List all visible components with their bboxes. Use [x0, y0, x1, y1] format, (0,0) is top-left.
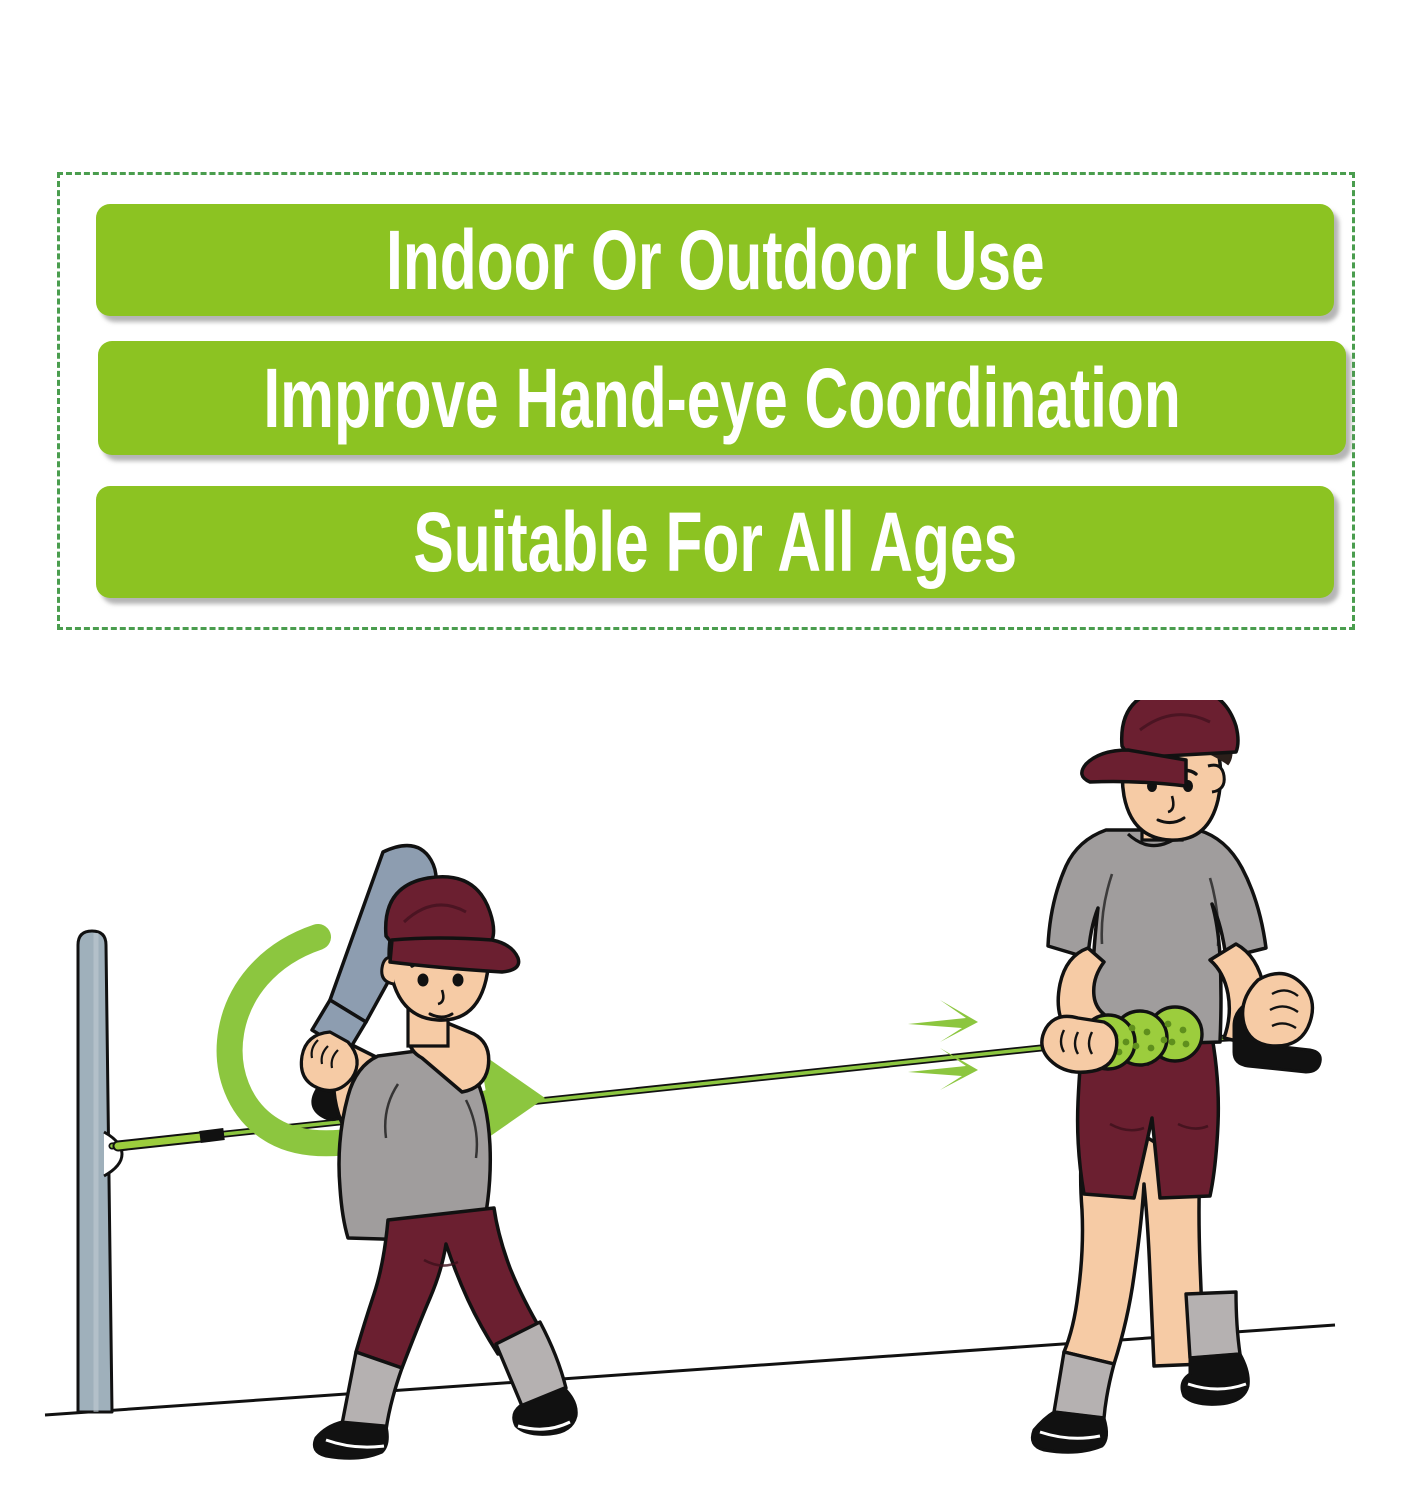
adult-left-hand	[1042, 1016, 1117, 1072]
feature-bar-all-ages: Suitable For All Ages	[96, 486, 1334, 598]
boy-sock-left	[342, 1352, 402, 1430]
feature-bar-hand-eye: Improve Hand-eye Coordination	[98, 341, 1346, 455]
boy-shoe-left	[314, 1422, 387, 1458]
adult-shoe-right	[1182, 1354, 1248, 1404]
adult-sock-left	[1054, 1352, 1114, 1418]
feature-bar-label-2: Improve Hand-eye Coordination	[263, 356, 1180, 440]
adult-trainer	[1032, 700, 1320, 1452]
motion-arrows	[908, 1000, 978, 1090]
boy-head	[382, 877, 519, 1020]
page-root: Indoor Or Outdoor Use Improve Hand-eye C…	[0, 0, 1415, 1500]
feature-bar-label-1: Indoor Or Outdoor Use	[386, 218, 1045, 302]
feature-highlights-block: Indoor Or Outdoor Use Improve Hand-eye C…	[57, 172, 1355, 630]
feature-bar-label-3: Suitable For All Ages	[413, 500, 1017, 584]
illustration	[0, 700, 1415, 1500]
adult-right-hand	[1243, 973, 1313, 1046]
illustration-svg	[0, 700, 1415, 1500]
ground-line	[45, 1325, 1335, 1415]
feature-bar-indoor-outdoor: Indoor Or Outdoor Use	[96, 204, 1334, 316]
adult-sock-right	[1186, 1292, 1240, 1358]
adult-head	[1082, 700, 1238, 840]
boy-batter	[301, 846, 576, 1459]
boy-hands	[301, 1032, 357, 1090]
